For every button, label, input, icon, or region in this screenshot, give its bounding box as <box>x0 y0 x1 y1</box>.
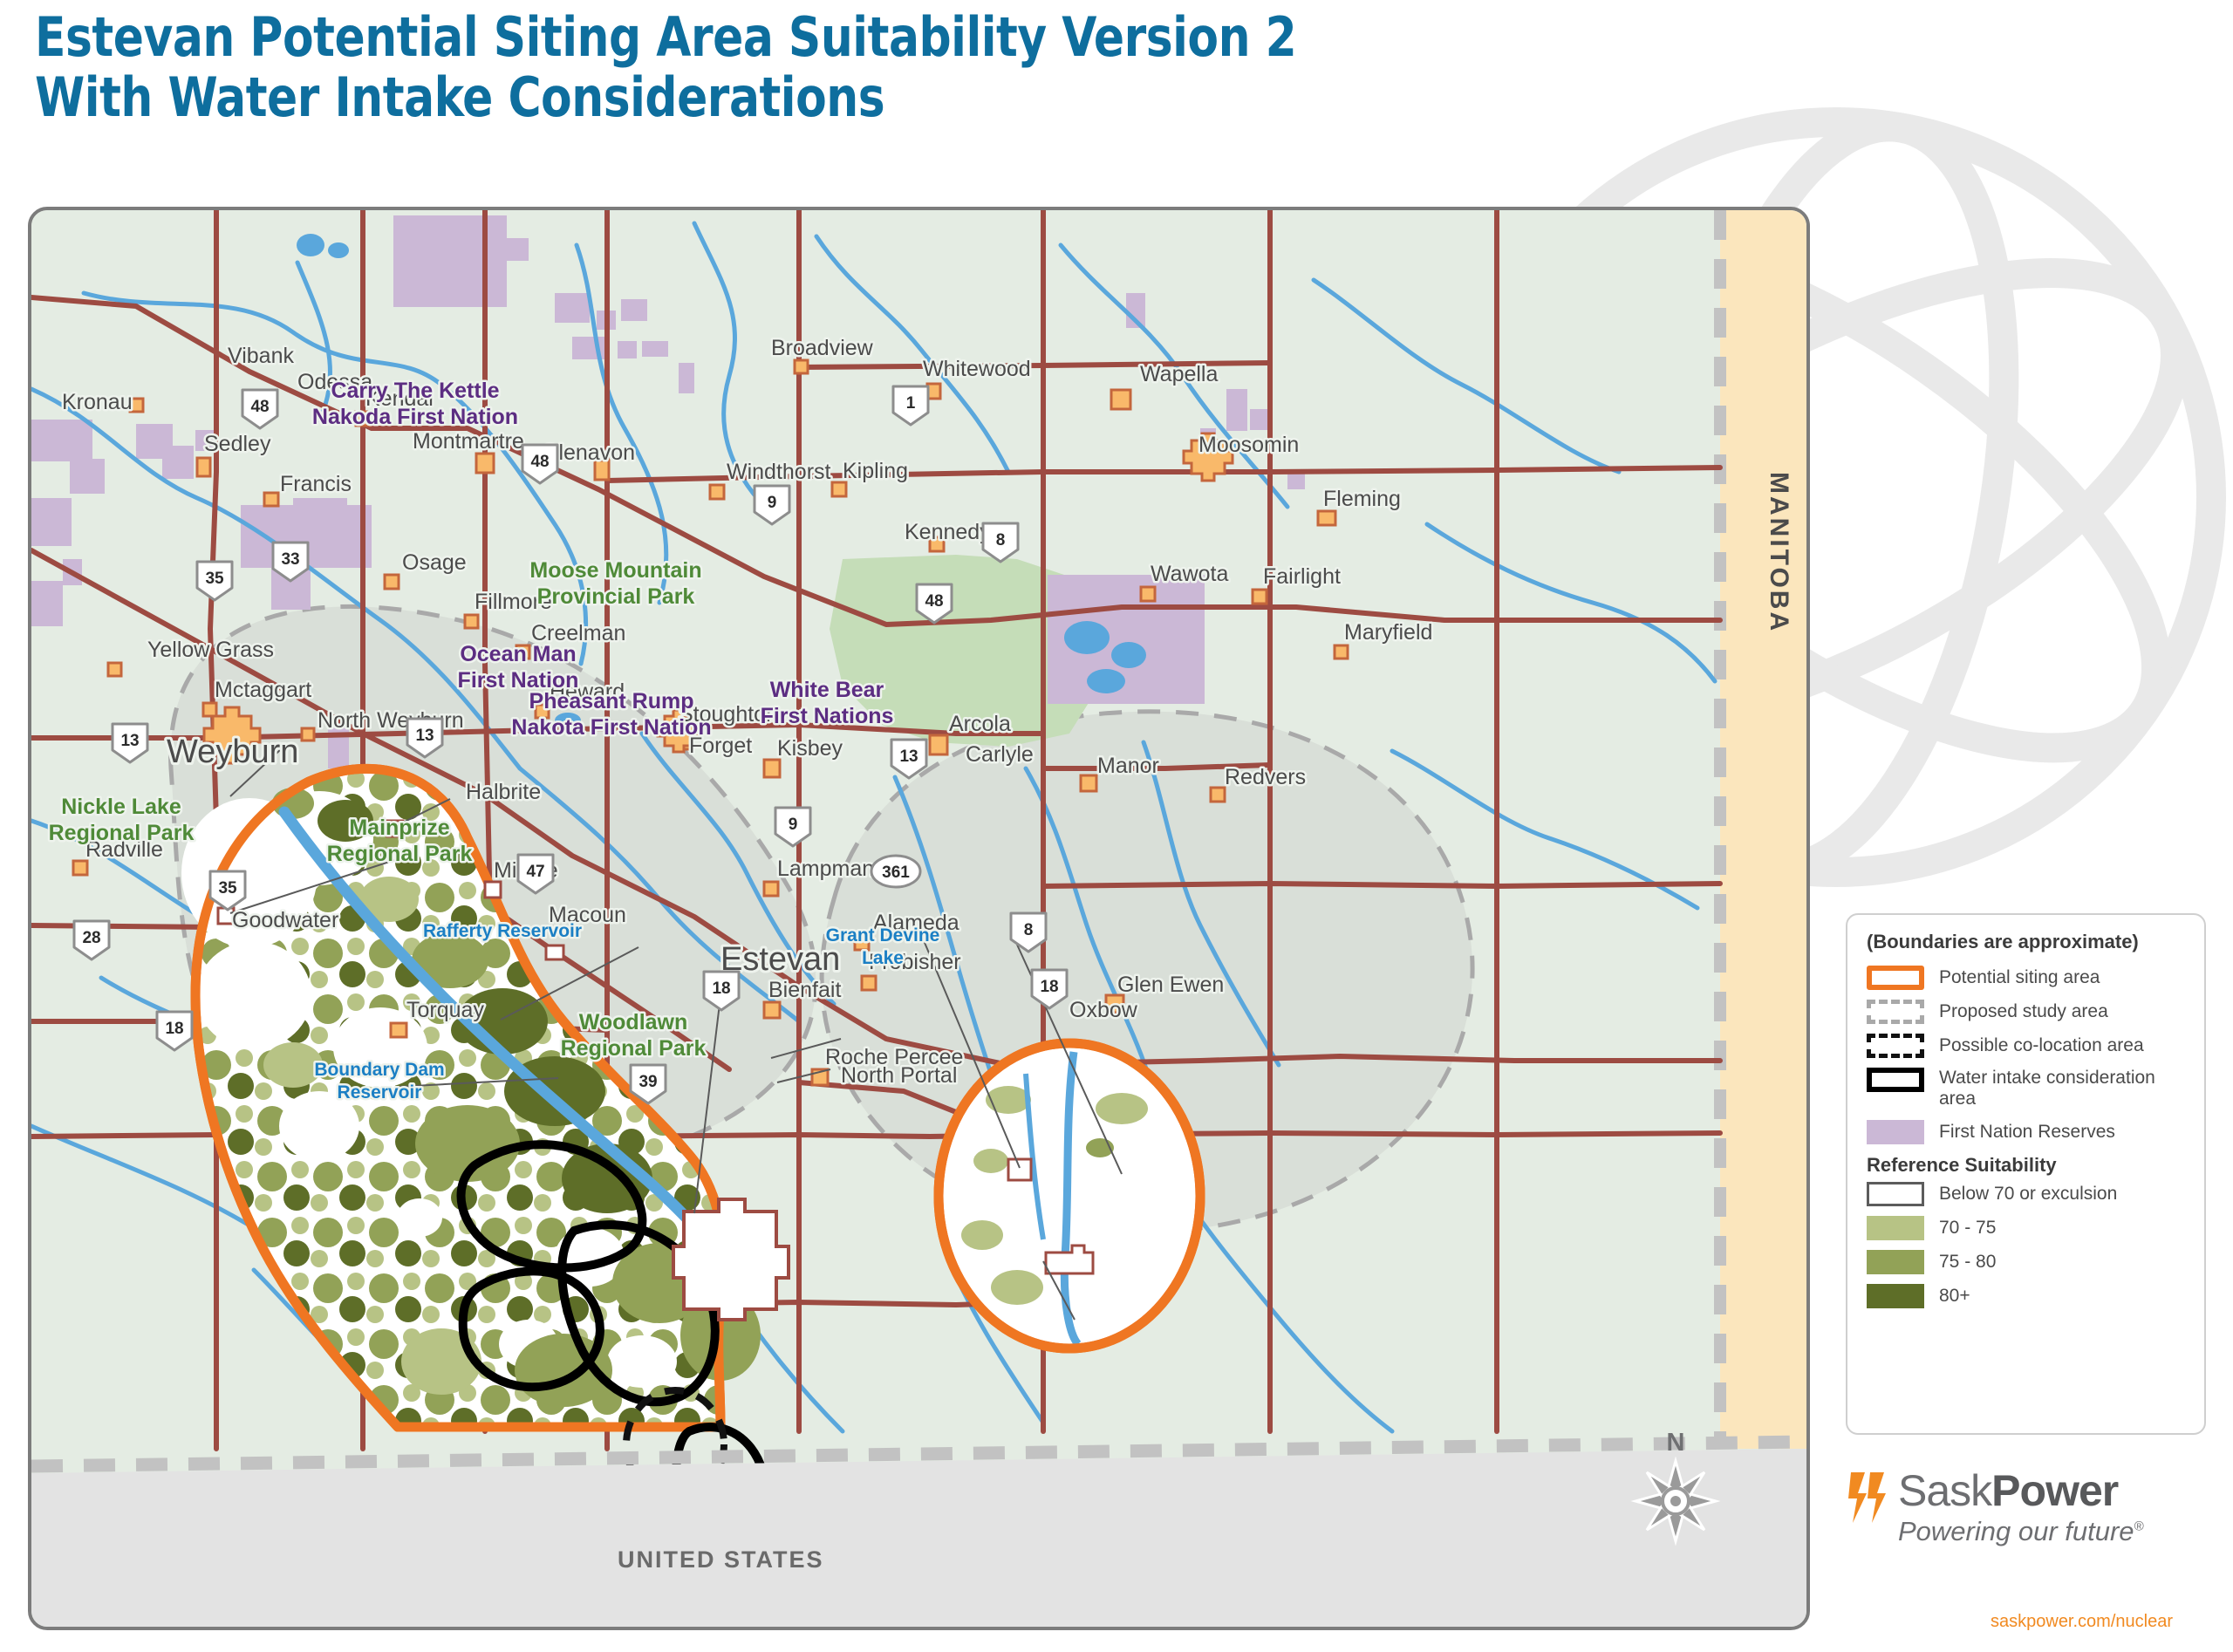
legend-label: 70 - 75 <box>1939 1218 1996 1239</box>
highway-number: 8 <box>996 531 1006 550</box>
province-label-manitoba: MANITOBA <box>1765 472 1793 633</box>
proposed-study-area-swatch <box>1867 1000 1924 1024</box>
town-label: Kronau <box>62 390 133 414</box>
town-label: Moosomin <box>1198 433 1299 457</box>
legend-item-75-80[interactable]: 75 - 80 <box>1867 1250 2190 1274</box>
potential-siting-area-east[interactable] <box>939 1043 1200 1348</box>
first-nation-label: Nakoda First Nation <box>312 405 518 429</box>
highway-number: 39 <box>638 1073 657 1091</box>
town-label: Lampman <box>777 857 874 881</box>
town-label: Torquay <box>406 998 484 1022</box>
page-title: Estevan Potential Siting Area Suitabilit… <box>35 7 1391 128</box>
town-label: Redvers <box>1225 765 1306 789</box>
legend-header: (Boundaries are approximate) <box>1867 931 2190 953</box>
lightning-bolt-icon <box>1847 1472 1888 1523</box>
manitoba-region <box>1720 210 1806 1449</box>
water-feature-label: Rafferty Reservoir <box>423 921 582 941</box>
water-intake-area-swatch <box>1867 1068 1924 1092</box>
town-label: Maryfield <box>1344 620 1432 645</box>
legend-item-potential-siting-area[interactable]: Potential siting area <box>1867 966 2190 990</box>
highway-shield-icon[interactable]: 361 <box>871 856 920 887</box>
suitability-70-75-swatch <box>1867 1216 1924 1240</box>
town-label: Arcola <box>949 712 1011 736</box>
brand-url[interactable]: saskpower.com/nuclear <box>1991 1612 2173 1632</box>
town-label: Yellow Grass <box>147 638 274 662</box>
highway-number: 48 <box>530 453 549 471</box>
town-label: Whitewood <box>923 357 1031 381</box>
town-label: Vibank <box>228 344 294 368</box>
town-label: Carlyle <box>966 742 1034 767</box>
town-label: Fairlight <box>1263 564 1341 589</box>
town-label: Kisbey <box>777 736 843 761</box>
legend-suitability-header: Reference Suitability <box>1867 1154 2190 1177</box>
highway-number: 18 <box>165 1020 183 1038</box>
town-label: Halbrite <box>466 780 541 804</box>
saskpower-logo: SaskPower Powering our future® <box>1847 1469 2144 1547</box>
town-label: Kennedy <box>905 520 991 544</box>
first-nation-label: Nakota First Nation <box>511 715 711 740</box>
town-label: Broadview <box>771 336 874 360</box>
legend-label: Potential siting area <box>1939 967 2100 988</box>
town-label: Weyburn <box>167 734 298 770</box>
highway-number: 48 <box>250 398 269 416</box>
park-label: Provincial Park <box>537 584 695 609</box>
suitability-80-plus-swatch <box>1867 1284 1924 1308</box>
title-line-1: Estevan Potential Siting Area Suitabilit… <box>35 7 1296 67</box>
first-nation-label: First Nations <box>761 704 894 728</box>
town-label: Osage <box>402 550 467 575</box>
legend-item-below-70[interactable]: Below 70 or exculsion <box>1867 1182 2190 1206</box>
highway-number: 9 <box>768 494 777 512</box>
brand-name: SaskPower <box>1898 1469 2144 1512</box>
park-label: Mainprize <box>349 816 449 840</box>
town-label: Sedley <box>204 432 271 456</box>
town-label: Francis <box>280 472 352 496</box>
first-nation-label: Pheasant Rump <box>529 689 694 713</box>
water-feature-label: Boundary Dam <box>314 1060 444 1080</box>
highway-number: 9 <box>789 816 798 834</box>
legend-item-70-75[interactable]: 70 - 75 <box>1867 1216 2190 1240</box>
town-label: Fleming <box>1323 487 1401 511</box>
town-label: Manor <box>1097 754 1159 778</box>
legend-label: First Nation Reserves <box>1939 1122 2115 1143</box>
park-label: Nickle Lake <box>61 795 181 819</box>
first-nation-reserves-swatch <box>1867 1120 1924 1144</box>
town-label: Windthorst <box>727 460 831 484</box>
country-label-usa: UNITED STATES <box>618 1546 824 1573</box>
town-label: Montmartre <box>413 429 524 454</box>
town-label: Mctaggart <box>215 678 311 702</box>
legend-label: 75 - 80 <box>1939 1252 1996 1273</box>
town-label: Kipling <box>843 459 908 483</box>
highway-number: 361 <box>882 864 910 882</box>
legend-label: 80+ <box>1939 1286 1970 1307</box>
highway-number: 18 <box>712 980 730 998</box>
town-label: Oxbow <box>1069 998 1138 1022</box>
water-feature-label: Grant Devine <box>826 925 940 945</box>
highway-number: 28 <box>82 929 100 947</box>
brand-tagline: Powering our future® <box>1898 1516 2144 1547</box>
highway-number: 8 <box>1024 921 1034 939</box>
town-label: Glen Ewen <box>1117 973 1224 997</box>
svg-text:N: N <box>1667 1429 1685 1457</box>
potential-siting-area-swatch <box>1867 966 1924 990</box>
town-label: Wapella <box>1140 362 1218 386</box>
possible-co-location-area-swatch <box>1867 1034 1924 1058</box>
highway-number: 1 <box>906 394 916 413</box>
town-label: North Portal <box>841 1063 957 1088</box>
park-label: Woodlawn <box>579 1010 688 1034</box>
town-label: Goodwater <box>232 908 338 932</box>
highway-number: 13 <box>120 732 139 750</box>
park-label: Moose Mountain <box>529 558 701 583</box>
first-nation-label: White Bear <box>770 678 884 702</box>
legend-label: Water intake consideration area <box>1939 1068 2190 1110</box>
first-nation-label: Ocean Man <box>460 642 576 666</box>
park-label: Regional Park <box>327 842 473 866</box>
highway-number: 35 <box>205 570 224 588</box>
map-canvas[interactable]: UNITED STATES MANITOBA <box>28 207 1810 1630</box>
legend-label: Proposed study area <box>1939 1001 2108 1022</box>
highway-number: 18 <box>1040 978 1058 996</box>
legend-item-80-plus[interactable]: 80+ <box>1867 1284 2190 1308</box>
town-label: Bienfait <box>768 978 841 1002</box>
park-label: Regional Park <box>561 1036 707 1061</box>
legend-item-possible-co-location-area[interactable]: Possible co-location area <box>1867 1034 2190 1058</box>
below-70-swatch <box>1867 1182 1924 1206</box>
legend-label: Below 70 or exculsion <box>1939 1184 2117 1205</box>
highway-number: 13 <box>899 747 918 766</box>
title-line-2: With Water Intake Considerations <box>35 67 1296 127</box>
united-states-band <box>31 1449 1806 1627</box>
highway-number: 33 <box>281 550 299 569</box>
legend-item-water-intake-area[interactable]: Water intake consideration area <box>1867 1068 2190 1110</box>
legend-item-proposed-study-area[interactable]: Proposed study area <box>1867 1000 2190 1024</box>
first-nation-label: Carry The Kettle <box>331 379 499 403</box>
highway-number: 13 <box>415 727 434 745</box>
highway-number: 48 <box>925 592 943 611</box>
park-label: Regional Park <box>49 821 195 845</box>
map-legend: (Boundaries are approximate) Potential s… <box>1846 913 2206 1435</box>
water-feature-label: Reservoir <box>338 1082 422 1102</box>
map-svg[interactable]: UNITED STATES MANITOBA <box>31 210 1806 1627</box>
legend-label: Possible co-location area <box>1939 1035 2144 1056</box>
water-feature-label: Lake <box>862 948 904 968</box>
suitability-75-80-swatch <box>1867 1250 1924 1274</box>
highway-number: 47 <box>526 863 544 881</box>
legend-item-first-nation-reserves[interactable]: First Nation Reserves <box>1867 1120 2190 1144</box>
highway-number: 35 <box>218 879 237 898</box>
town-label: Wawota <box>1151 562 1228 586</box>
